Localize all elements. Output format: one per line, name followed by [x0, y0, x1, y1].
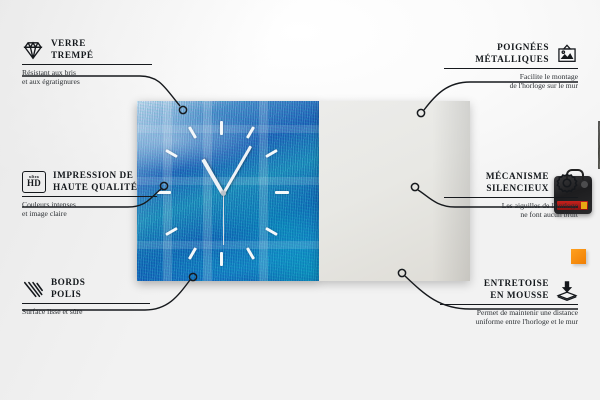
callout-rule [22, 64, 152, 65]
hour-tick [157, 191, 171, 194]
callout-rule [444, 197, 578, 198]
callout-verre-trempe: VERRE TREMPÉ Résistant aux bris et aux é… [22, 38, 152, 87]
callout-rule [444, 68, 578, 69]
diamond-icon [22, 39, 44, 61]
polished-edges-icon [22, 278, 44, 300]
callout-title: VERRE TREMPÉ [51, 38, 94, 61]
callout-entretoise-en-mousse: ENTRETOISE EN MOUSSE Permet de maintenir… [440, 278, 578, 327]
callout-header: MÉCANISME SILENCIEUX [444, 171, 578, 194]
callout-header: BORDS POLIS [22, 277, 150, 300]
hour-tick [275, 191, 289, 194]
callout-description: Facilite le montage de l'horloge sur le … [444, 72, 578, 91]
gear-icon [556, 172, 578, 194]
clock-front-panel [137, 101, 319, 281]
callout-bords-polis: BORDS POLIS Surface lisse et sûre [22, 277, 150, 316]
callout-description: Couleurs intenses et image claire [22, 200, 157, 219]
callout-mecanisme-silencieux: MÉCANISME SILENCIEUX Les aiguilles de l'… [444, 171, 578, 220]
callout-description: Résistant aux bris et aux égratignures [22, 68, 152, 87]
hour-tick [220, 252, 223, 266]
ultra-hd-icon: ultra HD [22, 171, 46, 193]
callout-header: POIGNÉES MÉTALLIQUES [444, 42, 578, 65]
foam-spacer-arrow-icon [556, 279, 578, 301]
callout-description: Permet de maintenir une distance uniform… [440, 308, 578, 327]
callout-title: IMPRESSION DE HAUTE QUALITÉ [53, 170, 138, 193]
callout-description: Surface lisse et sûre [22, 307, 150, 317]
second-hand [223, 193, 224, 245]
infographic-canvas: VERRE TREMPÉ Résistant aux bris et aux é… [0, 0, 600, 400]
foam-spacer [571, 249, 586, 264]
callout-header: ENTRETOISE EN MOUSSE [440, 278, 578, 301]
callout-rule [22, 196, 157, 197]
ultra-hd-large-label: HD [27, 179, 41, 188]
callout-title: POIGNÉES MÉTALLIQUES [475, 42, 549, 65]
callout-header: VERRE TREMPÉ [22, 38, 152, 61]
callout-impression-haute-qualite: ultra HD IMPRESSION DE HAUTE QUALITÉ Cou… [22, 170, 157, 219]
mechanism-knob [581, 181, 588, 188]
callout-title: ENTRETOISE EN MOUSSE [484, 278, 549, 301]
wall-mount-frame-icon [556, 43, 578, 65]
callout-rule [440, 304, 578, 305]
callout-poignees-metalliques: POIGNÉES MÉTALLIQUES Facilite le montage… [444, 42, 578, 91]
callout-title: BORDS POLIS [51, 277, 85, 300]
callout-title: MÉCANISME SILENCIEUX [486, 171, 549, 194]
callout-header: ultra HD IMPRESSION DE HAUTE QUALITÉ [22, 170, 157, 193]
callout-description: Les aiguilles de l'horloge ne font aucun… [444, 201, 578, 220]
product-image [137, 101, 470, 281]
callout-rule [22, 303, 150, 304]
hands-center-cap [221, 191, 226, 196]
hour-tick [220, 121, 223, 135]
